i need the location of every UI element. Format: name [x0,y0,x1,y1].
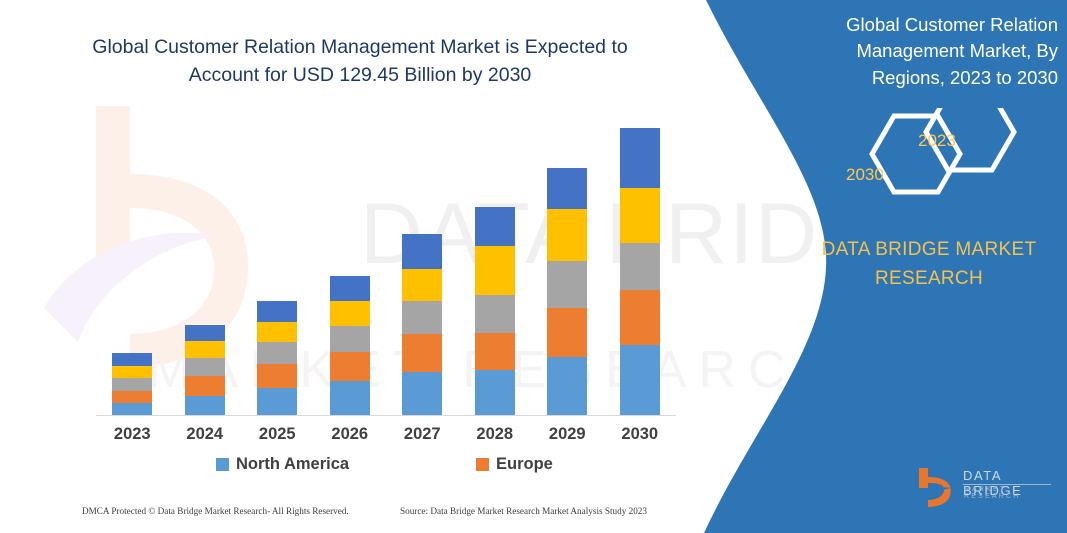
bar-segment-2026-series-5 [330,276,370,301]
brand-name: DATA BRIDGE MARKET RESEARCH [800,236,1058,293]
company-logo: DATA BRIDGE MARKET RESEARCH [915,466,1055,508]
legend-item-europe[interactable]: Europe [476,455,553,474]
bar-segment-2024-series-5 [185,325,225,341]
x-label-2030: 2030 [610,425,670,444]
legend-label: North America [236,455,349,474]
bar-segment-2029-north-america [547,357,587,416]
bar-2029 [547,168,587,416]
bar-segment-2027-series-4 [402,269,442,301]
hexagon-2023-label: 2023 [918,131,956,151]
bar-segment-2025-series-5 [257,301,297,321]
bar-segment-2026-europe [330,352,370,380]
footer: DMCA Protected © Data Bridge Market Rese… [0,506,700,526]
x-label-2023: 2023 [102,425,162,444]
x-label-2025: 2025 [247,425,307,444]
bar-segment-2024-europe [185,376,225,395]
stacked-bar-chart [96,120,676,416]
x-label-2026: 2026 [320,425,380,444]
bar-segment-2025-north-america [257,388,297,416]
brand-line-1: DATA BRIDGE MARKET [800,236,1058,265]
chart-legend: North AmericaEurope [96,455,676,479]
bar-segment-2023-series-3 [112,378,152,391]
legend-swatch-icon [216,458,229,471]
page-title: Global Customer Relation Management Mark… [60,34,660,89]
hexagon-2030-shape [872,116,960,192]
logo-text-secondary: MARKET RESEARCH [964,486,1055,500]
x-label-2024: 2024 [175,425,235,444]
bar-segment-2028-series-3 [475,295,515,333]
bar-segment-2028-europe [475,333,515,371]
hexagon-2030-label: 2030 [846,165,884,185]
bar-segment-2024-north-america [185,396,225,416]
bar-segment-2023-series-5 [112,353,152,366]
bar-segment-2024-series-4 [185,341,225,358]
legend-swatch-icon [476,458,489,471]
bar-segment-2030-north-america [620,345,660,416]
bar-segment-2026-north-america [330,381,370,416]
footer-source-text: Source: Data Bridge Market Research Mark… [400,506,647,516]
bar-2030 [620,128,660,416]
bar-segment-2028-north-america [475,370,515,416]
bar-2025 [257,301,297,416]
bar-segment-2024-series-3 [185,358,225,376]
x-label-2028: 2028 [465,425,525,444]
bar-segment-2027-series-3 [402,301,442,334]
bar-segment-2027-north-america [402,372,442,416]
x-label-2029: 2029 [537,425,597,444]
bar-segment-2029-series-5 [547,168,587,209]
data-bridge-logo-icon [915,466,961,508]
bar-segment-2025-europe [257,364,297,388]
x-axis-labels: 20232024202520262027202820292030 [96,425,676,449]
bar-segment-2029-europe [547,308,587,357]
bar-segment-2030-europe [620,290,660,346]
bar-segment-2029-series-3 [547,261,587,308]
panel-title: Global Customer Relation Management Mark… [800,12,1058,91]
bar-segment-2025-series-3 [257,342,297,364]
infographic-root: DATA BRIDGE MARKET RESEARCH Global Custo… [0,0,1067,533]
bar-segment-2028-series-4 [475,246,515,295]
bar-2027 [402,234,442,416]
bar-segment-2026-series-4 [330,301,370,326]
bar-segment-2023-series-4 [112,366,152,379]
bar-segment-2030-series-3 [620,243,660,290]
bar-2024 [185,325,225,416]
bar-2023 [112,353,152,416]
legend-label: Europe [496,455,553,474]
footer-dmca-text: DMCA Protected © Data Bridge Market Rese… [82,506,349,516]
bar-segment-2023-europe [112,391,152,404]
bar-segment-2025-series-4 [257,322,297,342]
bar-segment-2030-series-4 [620,188,660,243]
hexagon-group: 2030 2023 [820,108,1060,218]
x-axis-line [96,415,676,416]
legend-item-north-america[interactable]: North America [216,455,349,474]
bar-segment-2028-series-5 [475,207,515,247]
bar-segment-2027-europe [402,334,442,372]
bar-segment-2027-series-5 [402,234,442,269]
bar-segment-2029-series-4 [547,209,587,261]
bar-segment-2030-series-5 [620,128,660,188]
bar-2028 [475,207,515,416]
bar-2026 [330,276,370,416]
x-label-2027: 2027 [392,425,452,444]
logo-divider [963,484,1051,485]
bar-segment-2026-series-3 [330,326,370,352]
hexagon-shapes-icon [820,108,1060,218]
brand-line-2: RESEARCH [800,265,1058,294]
